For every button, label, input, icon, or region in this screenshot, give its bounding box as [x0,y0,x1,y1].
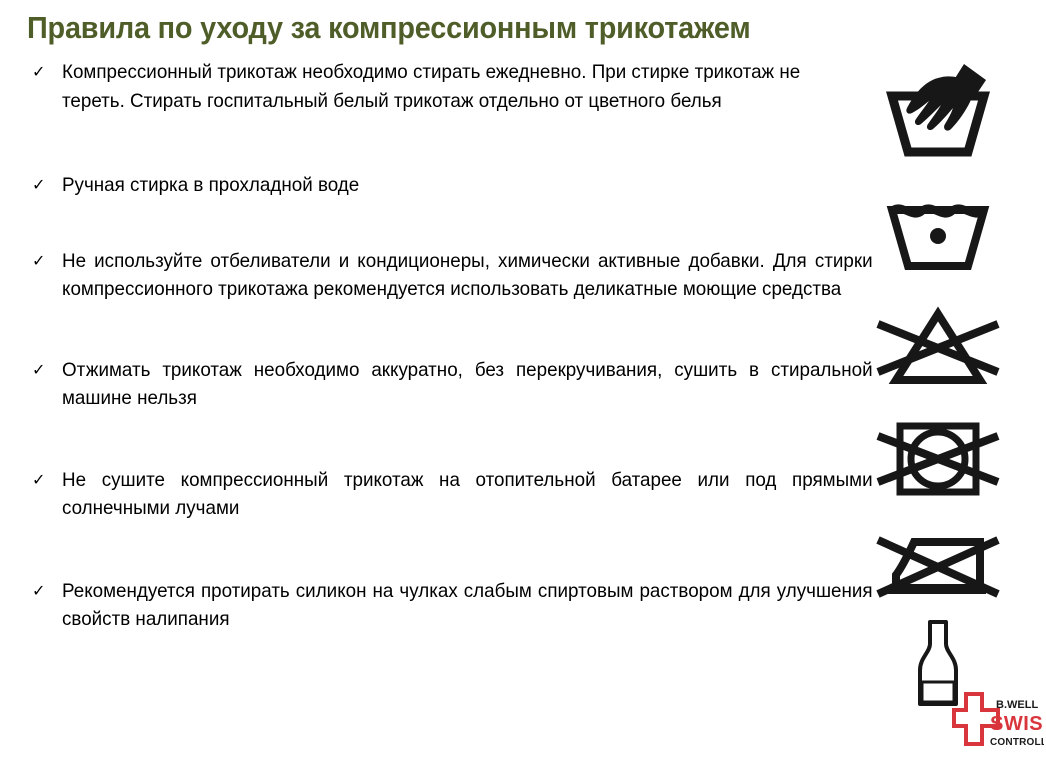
list-item: ✓ Не используйте отбеливатели и кондицио… [28,247,843,304]
list-item: ✓ Ручная стирка в прохладной воде [28,171,843,200]
do-not-bleach-icon [862,302,1014,390]
checkmark-icon: ✓ [32,357,45,385]
list-item: ✓ Рекомендуется протирать силикон на чул… [28,577,843,634]
checkmark-icon: ✓ [32,578,45,606]
checkmark-icon: ✓ [32,467,45,495]
list-item-text: Отжимать трикотаж необходимо аккуратно, … [62,356,873,413]
list-item-text: Ручная стирка в прохладной воде [62,171,800,200]
checkmark-icon: ✓ [32,172,45,200]
list-item: ✓ Компрессионный трикотаж необходимо сти… [28,58,843,115]
hand-wash-icon [862,56,1014,160]
list-item-text: Рекомендуется протирать силикон на чулка… [62,577,873,634]
do-not-tumble-dry-icon [862,412,1014,506]
logo-line-1: B.WELL [996,699,1038,711]
list-item-text: Компрессионный трикотаж необходимо стира… [62,58,800,115]
list-item-text: Не сушите компрессионный трикотаж на ото… [62,466,873,523]
care-symbols-column [862,0,1046,761]
checkmark-icon: ✓ [32,248,45,276]
bwell-swiss-controlled-logo: B.WELL SWISS CONTROLLED [952,688,1044,758]
list-item: ✓ Не сушите компрессионный трикотаж на о… [28,466,843,523]
slide-root: Правила по уходу за компрессионным трико… [0,0,1046,761]
cool-wash-tub-icon [862,196,1014,274]
page-title: Правила по уходу за компрессионным трико… [27,9,911,47]
list-item: ✓ Отжимать трикотаж необходимо аккуратно… [28,356,843,413]
logo-line-2: SWISS [990,713,1044,735]
logo-line-3: CONTROLLED [990,737,1044,748]
checkmark-icon: ✓ [32,59,45,87]
list-item-text: Не используйте отбеливатели и кондиционе… [62,247,873,304]
care-rules-list: ✓ Компрессионный трикотаж необходимо сти… [28,58,843,634]
do-not-iron-icon [862,522,1014,606]
